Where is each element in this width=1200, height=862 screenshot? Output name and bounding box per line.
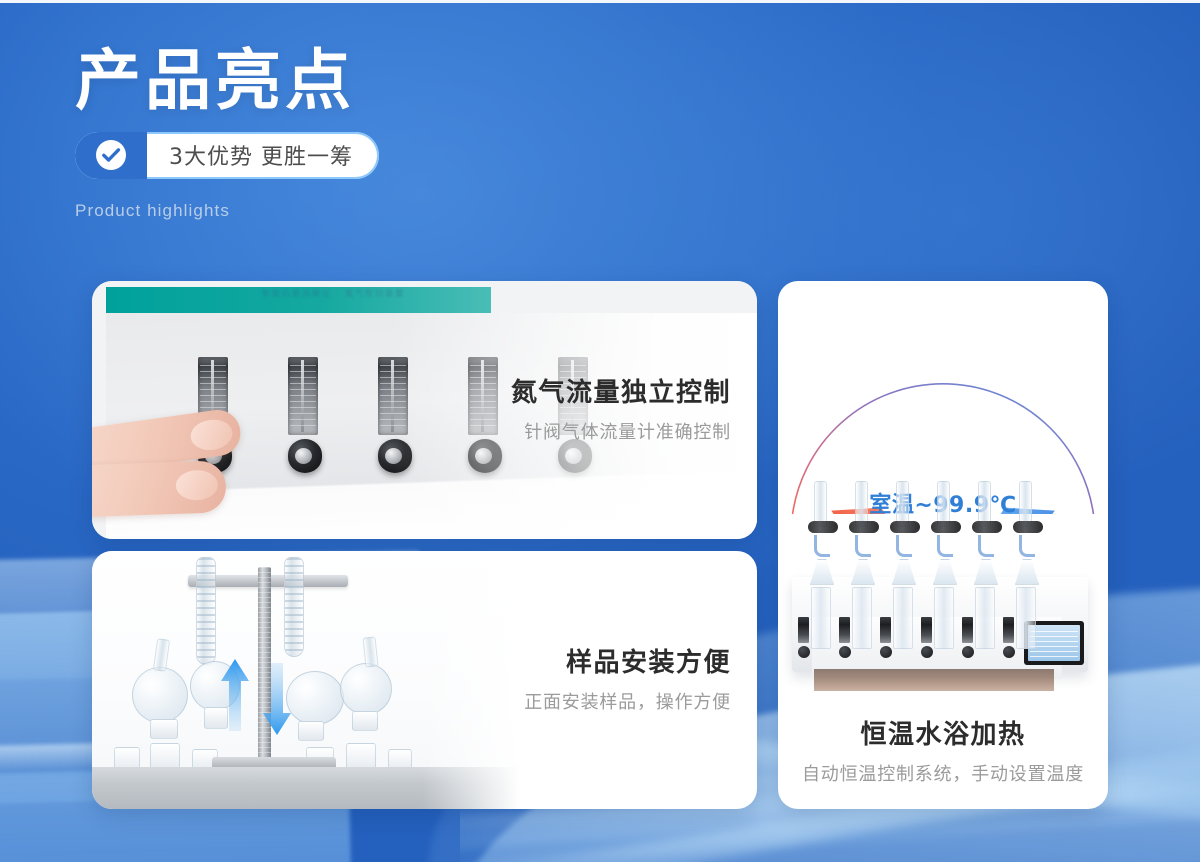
water-bath-instrument-photo <box>778 477 1108 707</box>
card-sample-text: 样品安装方便 正面安装样品，操作方便 <box>524 647 731 714</box>
flask-3 <box>286 671 344 725</box>
card-nitrogen-text: 氮气流量独立控制 针阀气体流量计准确控制 <box>511 377 731 444</box>
card-waterbath-title: 恒温水浴加热 <box>778 719 1108 753</box>
arrow-down-icon <box>262 663 288 740</box>
vessel-flask-6 <box>1015 559 1039 585</box>
condenser-left <box>196 557 216 665</box>
blue-hose-2 <box>855 535 871 557</box>
flask-3-joint <box>298 721 324 741</box>
flask-1-joint <box>150 719 178 739</box>
valve-manifold-1 <box>808 521 838 533</box>
blue-hose-5 <box>978 535 994 557</box>
page-title: 产品亮点 <box>75 44 379 118</box>
blue-hose-1 <box>814 535 830 557</box>
card-nitrogen-title: 氮气流量独立控制 <box>511 377 731 411</box>
front-tube-1 <box>811 587 831 649</box>
front-flow-meter-2 <box>839 617 851 658</box>
front-tube-2 <box>852 587 872 649</box>
valve-manifold-2 <box>849 521 879 533</box>
card-nitrogen-subtitle: 针阀气体流量计准确控制 <box>511 421 731 444</box>
vessel-flask-3 <box>892 559 916 585</box>
flask-4 <box>340 663 392 715</box>
instrument-banner-text: 智能石墨消解仪 · 氮气吹扫装置 <box>262 288 405 299</box>
blue-hose-6 <box>1019 535 1035 557</box>
front-tube-5 <box>975 587 995 649</box>
glassware-apparatus-photo <box>92 551 522 809</box>
vessel-flask-2 <box>851 559 875 585</box>
front-flow-meter-6 <box>1003 617 1015 658</box>
advantage-badge[interactable]: 3大优势 更胜一筹 <box>75 132 379 179</box>
arrow-up-icon <box>220 659 246 736</box>
check-circle-icon <box>75 132 147 179</box>
water-bath-tank <box>814 669 1054 691</box>
photo-fade-overlay-b <box>422 551 522 809</box>
front-flow-meter-5 <box>962 617 974 658</box>
valve-manifold-5 <box>972 521 1002 533</box>
card-waterbath-subtitle: 自动恒温控制系统，手动设置温度 <box>778 763 1108 786</box>
blue-hose-3 <box>896 535 912 557</box>
highlight-card-water-bath[interactable]: 室温~99.9℃ 恒温水浴加热 自动恒温控制系统，手动设置温度 <box>778 281 1108 809</box>
front-tube-3 <box>893 587 913 649</box>
advantage-badge-label: 3大优势 更胜一筹 <box>147 132 379 179</box>
vessel-flask-5 <box>974 559 998 585</box>
highlight-card-nitrogen-flow[interactable]: 智能石墨消解仪 · 氮气吹扫装置 氮气流量独立控制 <box>92 281 757 539</box>
highlight-card-sample-install[interactable]: 样品安装方便 正面安装样品，操作方便 <box>92 551 757 809</box>
hand-photo <box>92 401 256 539</box>
front-flow-meter-3 <box>880 617 892 658</box>
card-sample-subtitle: 正面安装样品，操作方便 <box>524 691 731 714</box>
valve-manifold-4 <box>931 521 961 533</box>
front-tube-4 <box>934 587 954 649</box>
front-flow-meter-4 <box>921 617 933 658</box>
flask-4-neck <box>362 636 378 667</box>
blue-hose-4 <box>937 535 953 557</box>
card-waterbath-text: 恒温水浴加热 自动恒温控制系统，手动设置温度 <box>778 719 1108 786</box>
vessel-flask-4 <box>933 559 957 585</box>
valve-manifold-6 <box>1013 521 1043 533</box>
condenser-right <box>284 557 304 657</box>
vessel-flask-1 <box>810 559 834 585</box>
flow-meter-2 <box>288 357 322 473</box>
valve-manifold-3 <box>890 521 920 533</box>
flask-1-neck <box>153 638 170 671</box>
front-flow-meter-1 <box>798 617 810 658</box>
flask-4-joint <box>352 711 378 731</box>
flask-1 <box>132 667 188 723</box>
card-sample-title: 样品安装方便 <box>524 647 731 681</box>
front-tube-6 <box>1016 587 1036 649</box>
page-subtitle-en: Product highlights <box>75 201 379 221</box>
page-header: 产品亮点 3大优势 更胜一筹 Product highlights <box>75 44 379 221</box>
